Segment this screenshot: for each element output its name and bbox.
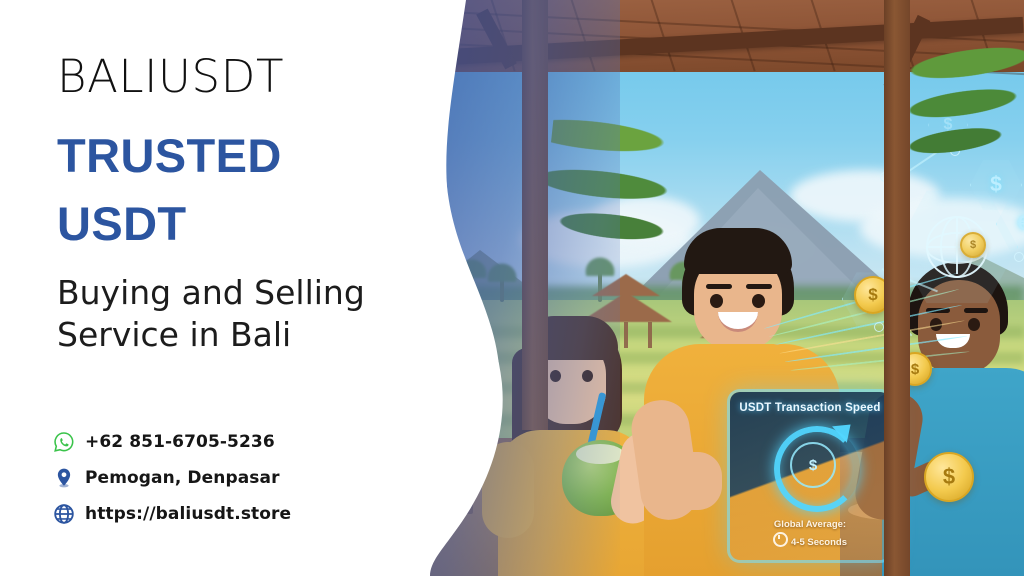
- promo-banner: $ USDT Transaction Speed $ Global Averag…: [0, 0, 1024, 576]
- tablet-title: USDT Transaction Speed: [730, 402, 890, 414]
- contact-row-whatsapp[interactable]: +62 851-6705-5236: [47, 424, 291, 460]
- gold-coin: $: [960, 232, 986, 258]
- subheadline: Buying and Selling Service in Bali: [57, 272, 447, 356]
- contact-row-website[interactable]: https://baliusdt.store: [47, 496, 291, 532]
- brand-name: BALIUSDT: [57, 50, 284, 103]
- pavilion-post: [884, 0, 910, 576]
- headline-line-2: USDT: [57, 196, 187, 251]
- tablet-speed-text: 4-5 Seconds: [791, 537, 847, 548]
- contact-list: +62 851-6705-5236 Pemogan, Denpasar: [47, 424, 291, 532]
- hologram-node: [1014, 252, 1024, 262]
- address-text: Pemogan, Denpasar: [85, 468, 280, 488]
- globe-icon: [47, 503, 81, 525]
- palm-frond: [815, 16, 1024, 194]
- tablet-subtitle: Global Average:: [730, 519, 890, 530]
- tablet-speed-value: 4-5 Seconds: [730, 532, 890, 548]
- text-column: BALIUSDT TRUSTED USDT Buying and Selling…: [0, 0, 440, 576]
- stopwatch-icon: [773, 532, 788, 547]
- whatsapp-number: +62 851-6705-5236: [85, 432, 275, 452]
- illustration-panel: $ USDT Transaction Speed $ Global Averag…: [430, 0, 1024, 576]
- website-url: https://baliusdt.store: [85, 504, 291, 524]
- contact-row-address[interactable]: Pemogan, Denpasar: [47, 460, 291, 496]
- headline-line-1: TRUSTED: [57, 128, 282, 183]
- white-curve-divider: [430, 0, 630, 576]
- dollar-core-icon: $: [790, 442, 836, 488]
- gold-coin-chest: $: [924, 452, 974, 502]
- whatsapp-icon: [47, 431, 81, 453]
- usdt-speed-tablet[interactable]: USDT Transaction Speed $ Global Average:…: [730, 392, 890, 560]
- location-pin-icon: [47, 467, 81, 489]
- hand-holding-tablet: [668, 452, 722, 510]
